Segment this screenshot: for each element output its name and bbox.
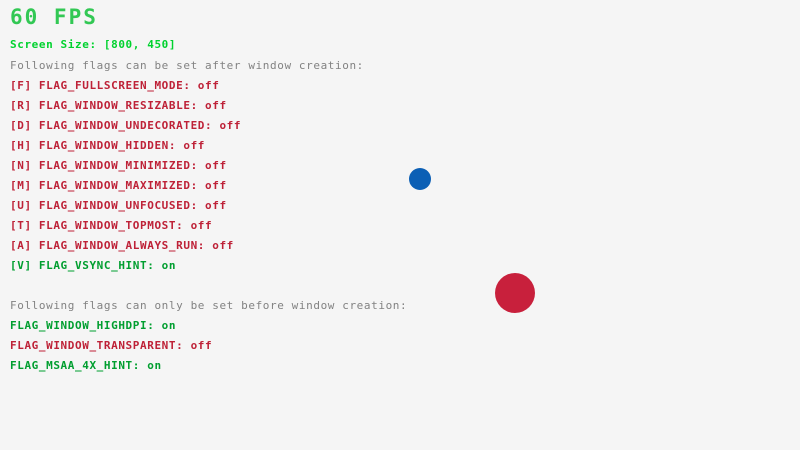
flag-row-flag-window-transparent[interactable]: FLAG_WINDOW_TRANSPARENT: off bbox=[10, 340, 212, 360]
blue-ball bbox=[409, 168, 431, 190]
flag-row-flag-window-always-run[interactable]: [A] FLAG_WINDOW_ALWAYS_RUN: off bbox=[10, 240, 241, 260]
flag-row-flag-window-unfocused[interactable]: [U] FLAG_WINDOW_UNFOCUSED: off bbox=[10, 200, 241, 220]
flags-after-creation-list: [F] FLAG_FULLSCREEN_MODE: off[R] FLAG_WI… bbox=[10, 80, 241, 280]
flag-row-flag-fullscreen-mode[interactable]: [F] FLAG_FULLSCREEN_MODE: off bbox=[10, 80, 241, 100]
red-ball bbox=[495, 273, 535, 313]
app-window: 60 FPS Screen Size: [800, 450] Following… bbox=[0, 0, 800, 450]
flag-row-flag-window-maximized[interactable]: [M] FLAG_WINDOW_MAXIMIZED: off bbox=[10, 180, 241, 200]
flag-row-flag-window-undecorated[interactable]: [D] FLAG_WINDOW_UNDECORATED: off bbox=[10, 120, 241, 140]
flag-row-flag-vsync-hint[interactable]: [V] FLAG_VSYNC_HINT: on bbox=[10, 260, 241, 280]
flags-before-creation-list: FLAG_WINDOW_HIGHDPI: onFLAG_WINDOW_TRANS… bbox=[10, 320, 212, 380]
flags-after-creation-header: Following flags can be set after window … bbox=[10, 60, 364, 71]
flag-row-flag-window-highdpi[interactable]: FLAG_WINDOW_HIGHDPI: on bbox=[10, 320, 212, 340]
flag-row-flag-window-topmost[interactable]: [T] FLAG_WINDOW_TOPMOST: off bbox=[10, 220, 241, 240]
flag-row-flag-window-minimized[interactable]: [N] FLAG_WINDOW_MINIMIZED: off bbox=[10, 160, 241, 180]
flag-row-flag-msaa-4x-hint[interactable]: FLAG_MSAA_4X_HINT: on bbox=[10, 360, 212, 380]
flag-row-flag-window-hidden[interactable]: [H] FLAG_WINDOW_HIDDEN: off bbox=[10, 140, 241, 160]
flag-row-flag-window-resizable[interactable]: [R] FLAG_WINDOW_RESIZABLE: off bbox=[10, 100, 241, 120]
screen-size-label: Screen Size: [800, 450] bbox=[10, 39, 176, 50]
flags-before-creation-header: Following flags can only be set before w… bbox=[10, 300, 407, 311]
fps-counter: 60 FPS bbox=[10, 7, 98, 28]
